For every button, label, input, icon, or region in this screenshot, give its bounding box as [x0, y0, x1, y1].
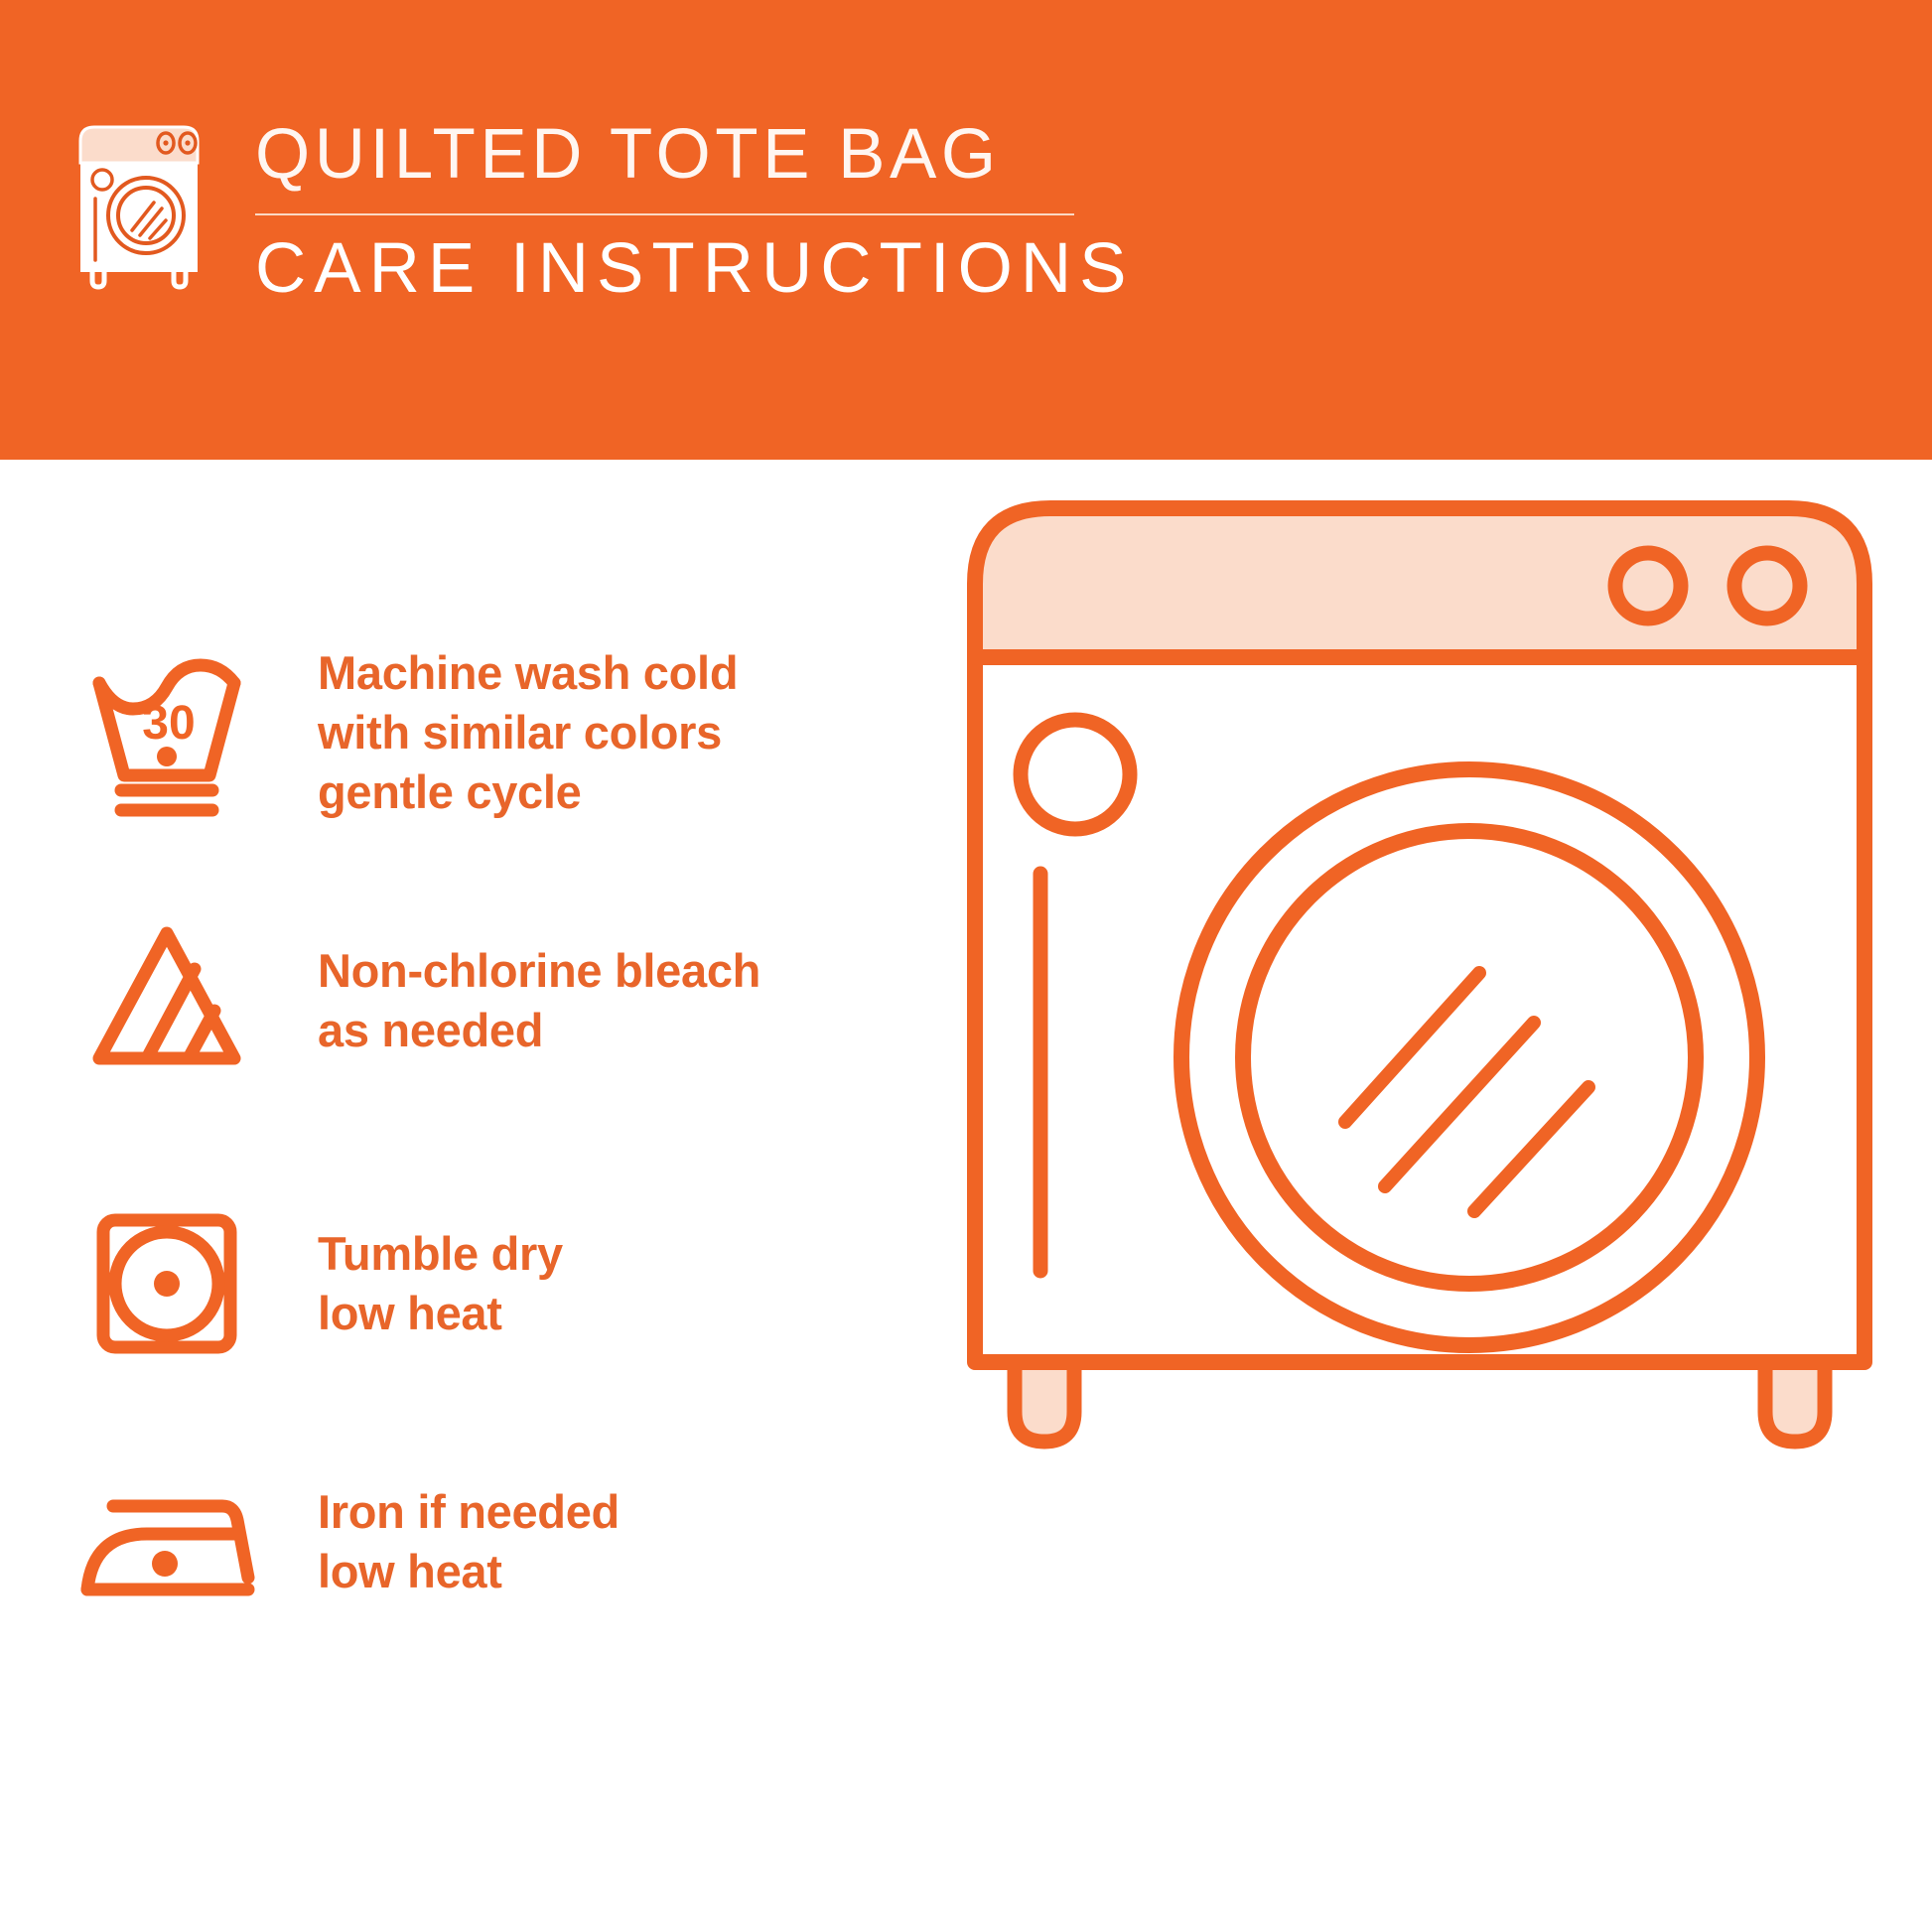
header-titles: QUILTED TOTE BAG CARE INSTRUCTIONS	[255, 117, 1135, 304]
page-title: QUILTED TOTE BAG	[255, 119, 1135, 190]
iron-low-heat-icon	[77, 1452, 256, 1631]
page-subtitle: CARE INSTRUCTIONS	[255, 233, 1135, 304]
wash-temperature-label: 30	[142, 697, 195, 750]
care-text-bleach-line-1: Non-chlorine bleach	[318, 941, 760, 1001]
care-row-wash: 30 Machine wash cold with similar colors…	[77, 643, 901, 822]
care-text-iron-line-1: Iron if needed	[318, 1482, 620, 1542]
title-divider	[255, 213, 1074, 215]
care-instruction-list: 30 Machine wash cold with similar colors…	[0, 460, 913, 1932]
washer-dial-left	[1615, 553, 1681, 619]
washer-body	[975, 657, 1864, 1362]
care-row-bleach: Non-chlorine bleach as needed	[77, 911, 901, 1090]
care-text-tumble-dry: Tumble dry low heat	[318, 1224, 563, 1343]
care-text-dry-line-2: low heat	[318, 1284, 563, 1343]
care-text-wash-line-2: with similar colors	[318, 703, 738, 762]
care-text-iron-line-2: low heat	[318, 1542, 620, 1601]
care-text-dry-line-1: Tumble dry	[318, 1224, 563, 1284]
bleach-triangle-striped-icon	[77, 911, 256, 1090]
care-text-wash-line-3: gentle cycle	[318, 762, 738, 822]
care-text-bleach-line-2: as needed	[318, 1001, 760, 1060]
washing-machine-illustration	[953, 486, 1886, 1479]
washer-dial-right	[1734, 553, 1800, 619]
care-text-bleach: Non-chlorine bleach as needed	[318, 941, 760, 1060]
care-text-wash-line-1: Machine wash cold	[318, 643, 738, 703]
care-row-iron: Iron if needed low heat	[77, 1452, 901, 1631]
header-content: QUILTED TOTE BAG CARE INSTRUCTIONS	[74, 117, 1135, 304]
care-text-iron: Iron if needed low heat	[318, 1482, 620, 1601]
wash-tub-30-gentle-icon: 30	[77, 643, 256, 822]
washing-machine-icon	[74, 121, 208, 290]
tumble-dry-low-heat-icon	[77, 1194, 256, 1373]
header-banner: QUILTED TOTE BAG CARE INSTRUCTIONS	[0, 0, 1932, 460]
care-text-wash: Machine wash cold with similar colors ge…	[318, 643, 738, 822]
care-row-tumble-dry: Tumble dry low heat	[77, 1194, 901, 1373]
